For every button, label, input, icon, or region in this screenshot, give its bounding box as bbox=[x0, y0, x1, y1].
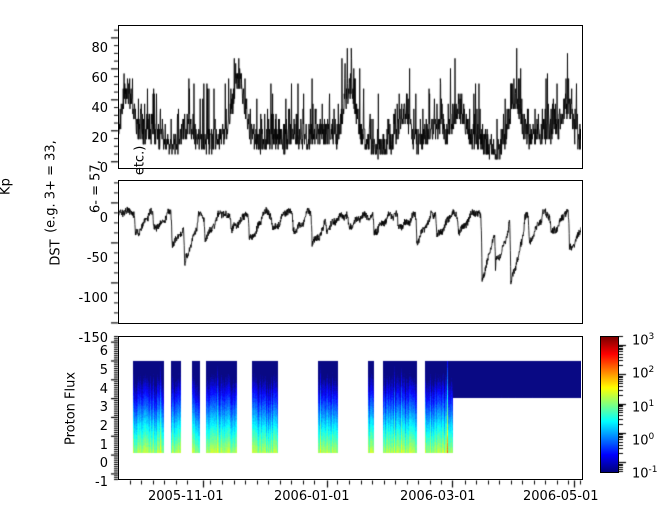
kp-ytick-0: 0 bbox=[78, 161, 108, 176]
cb-exponent-3: 3 bbox=[649, 332, 655, 342]
pf-ytick-neg1: -1 bbox=[82, 475, 108, 490]
pf-ytick-4: 4 bbox=[82, 382, 108, 397]
pf-ytick-1: 1 bbox=[82, 438, 108, 453]
xtick-label-1: 2006-01-01 bbox=[274, 489, 350, 504]
kp-plot-panel bbox=[118, 25, 583, 169]
kp-series-canvas bbox=[119, 26, 581, 167]
pf-ytick-2: 2 bbox=[82, 419, 108, 434]
xtick-label-0: 2005-11-01 bbox=[148, 489, 224, 504]
pf-ytick-0: 0 bbox=[82, 456, 108, 471]
kp-axis-label-line1: Kp bbox=[0, 107, 14, 267]
dst-ytick-neg50: -50 bbox=[60, 251, 108, 266]
colorbar-tick-label-1e0: 100 bbox=[632, 432, 654, 448]
dst-ytick-0: 0 bbox=[60, 211, 108, 226]
xtick-label-2: 2006-03-01 bbox=[400, 489, 476, 504]
figure-canvas: Kp (e.g. 3+ = 33, 6- = 57, 4 = 40, etc.)… bbox=[0, 0, 665, 523]
cb-mantissa-2: 10 bbox=[632, 366, 649, 381]
kp-ytick-60: 60 bbox=[78, 71, 108, 86]
cb-exponent-0: 0 bbox=[649, 432, 655, 442]
xtick-label-3: 2006-05-01 bbox=[523, 489, 599, 504]
colorbar-tick-label-1e2: 102 bbox=[632, 365, 654, 381]
cb-mantissa-0: 10 bbox=[632, 433, 649, 448]
colorbar-frame bbox=[600, 336, 619, 473]
pf-ytick-6: 6 bbox=[82, 344, 108, 359]
kp-ytick-20: 20 bbox=[78, 131, 108, 146]
colorbar-tick-label-1eneg1: 10-1 bbox=[632, 465, 658, 481]
cb-mantissa-1: 10 bbox=[632, 400, 649, 415]
cb-mantissa-neg1: 10 bbox=[632, 466, 649, 481]
colorbar-tick-label-1e3: 103 bbox=[632, 332, 654, 348]
cb-exponent-1: 1 bbox=[649, 399, 655, 409]
kp-ytick-80: 80 bbox=[78, 41, 108, 56]
colorbar-gradient-canvas bbox=[601, 337, 618, 472]
pf-ytick-3: 3 bbox=[82, 400, 108, 415]
cb-exponent-neg1: -1 bbox=[649, 465, 658, 475]
proton-flux-axis-label: Proton Flux bbox=[65, 348, 80, 468]
dst-series-canvas bbox=[119, 181, 581, 322]
kp-ytick-40: 40 bbox=[78, 101, 108, 116]
cb-mantissa-3: 10 bbox=[632, 333, 649, 348]
proton-flux-tick-marks bbox=[100, 331, 600, 496]
dst-plot-panel bbox=[118, 180, 583, 324]
pf-ytick-5: 5 bbox=[82, 363, 108, 378]
dst-ytick-neg100: -100 bbox=[60, 291, 108, 306]
cb-exponent-2: 2 bbox=[649, 365, 655, 375]
colorbar-tick-label-1e1: 101 bbox=[632, 399, 654, 415]
